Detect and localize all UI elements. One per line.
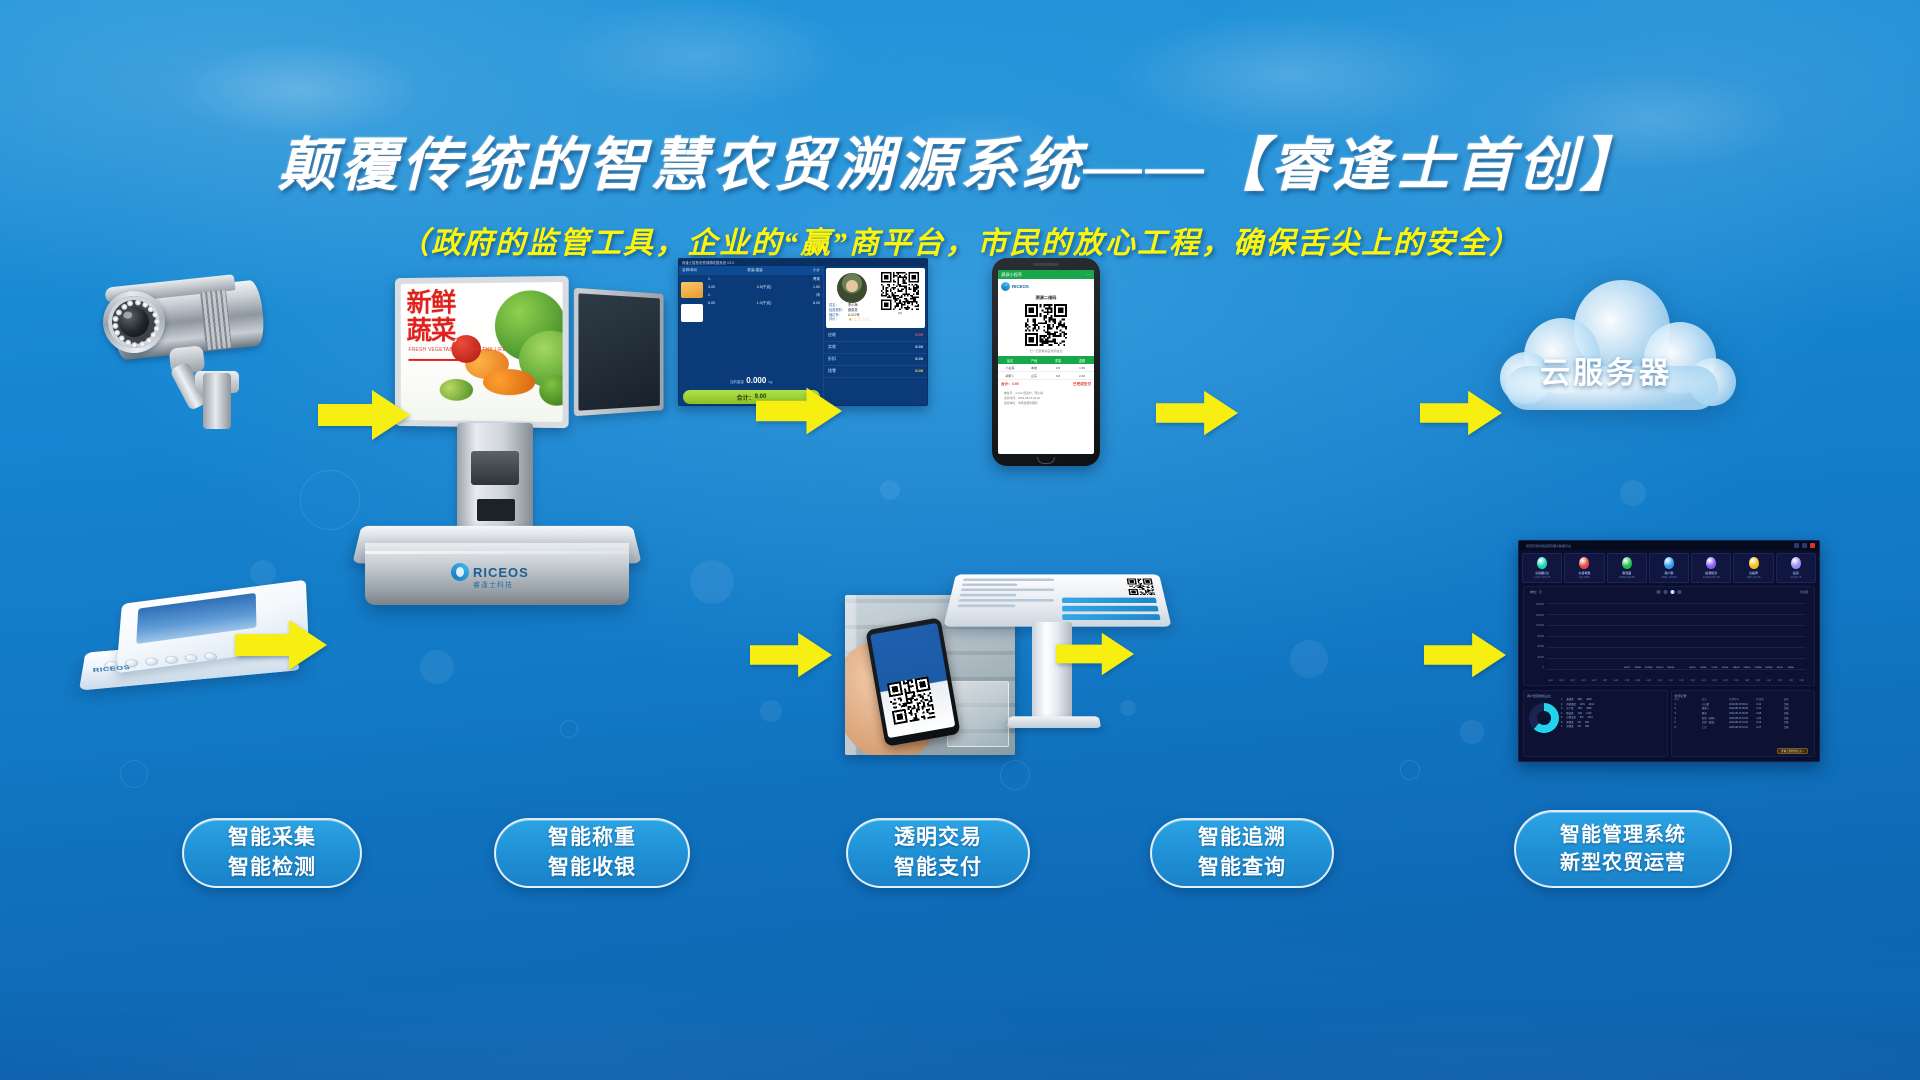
posui-vendor-fields: 姓名：李小梅经营类别：蔬菜类摊位号：A-012号评价：★☆☆☆☆ xyxy=(829,303,875,325)
phone-footer-info: 摊位号：A-012 经营户：李小梅交易时间：2019-08-15 10:22监管… xyxy=(998,389,1094,407)
chart-ytick: 180000 xyxy=(1526,603,1544,606)
dashboard-inspection-panel: 检测记录 序号品名检测时间检测值结果1小白菜2019-08-15 09:120.… xyxy=(1671,690,1816,757)
inspection-table: 序号品名检测时间检测值结果1小白菜2019-08-15 09:120.42合格2… xyxy=(1675,698,1812,731)
posui-amount-row: 实收9.00 xyxy=(824,342,927,354)
kiosk-touchscreen[interactable] xyxy=(943,574,1171,626)
chart-xtick: 18时 xyxy=(1743,678,1752,682)
pos-ad-english: FRESH VEGETABLES · HEALTHY LIFE xyxy=(408,347,506,353)
chart-view-toggle[interactable] xyxy=(1657,590,1682,594)
chart-xtick: 05时 xyxy=(1601,678,1610,682)
list-item: 7其他类2%268 xyxy=(1561,725,1664,730)
stage-label-line2: 新型农贸运营 xyxy=(1560,849,1686,877)
phone-navbar: 溯源小程序 ··· xyxy=(998,270,1094,279)
dashboard-kpi-card[interactable]: 合格率1891,70,35 xyxy=(1733,553,1773,583)
chart-ytick: 0 xyxy=(1526,666,1544,669)
stage-label-line2: 智能收银 xyxy=(548,853,636,883)
chart-x-axis: 00时01时02时03时04时05时06时07时08时09时10时11时12时1… xyxy=(1546,678,1806,682)
pos-customer-display xyxy=(574,288,664,416)
pos-brand-subtext: 睿逢士科技 xyxy=(473,580,513,590)
riceos-logo-icon xyxy=(451,563,469,581)
chart-xtick: 07时 xyxy=(1622,678,1631,682)
dashboard-kpi-card[interactable]: 交易笔数82,1468 xyxy=(1564,553,1604,583)
chart-xtick: 09时 xyxy=(1644,678,1653,682)
chart-xtick: 10时 xyxy=(1655,678,1664,682)
posui-window-title: 睿逢士智慧农贸溯源收银系统 V3.0 xyxy=(682,260,734,265)
posui-item-thumb xyxy=(681,304,703,322)
phone-table-head: 品名产地重量金额 xyxy=(998,356,1094,364)
stage-label-line1: 智能追溯 xyxy=(1198,823,1286,853)
kpi-value: 11964,646,78 xyxy=(1693,575,1729,579)
chart-xtick: 13时 xyxy=(1688,678,1697,682)
chart-unit-label: 单位：元 xyxy=(1530,590,1542,594)
cloud-server: 云服务器 xyxy=(1490,270,1750,430)
cctv-camera-icon xyxy=(95,275,310,435)
dashboard-kpi-card[interactable]: 交易额(元)1,827,193.75 xyxy=(1522,553,1562,583)
chart-ytick: 60000 xyxy=(1526,645,1544,648)
phone-qr-caption: 扫一扫查看商品溯源信息 xyxy=(998,349,1094,353)
arrow-right-icon xyxy=(1056,630,1134,678)
dashboard-kpi-card[interactable]: 投诉23,66,75 xyxy=(1776,553,1816,583)
chart-xtick: 11时 xyxy=(1666,678,1675,682)
posui-amount-row: 找零0.00 xyxy=(824,366,927,378)
traceability-mini-program[interactable]: 溯源小程序 ··· RICEOS 溯源二维码 扫一扫查看商品溯源信息 品名产地重… xyxy=(992,258,1100,466)
chart-xtick: 15时 xyxy=(1710,678,1719,682)
kpi-value: 2891,115.60 xyxy=(1651,575,1687,579)
stage-label-line1: 智能称重 xyxy=(548,823,636,853)
dashboard-category-panel: 商户经营类别占比 1蔬菜类38%48232肉禽蛋类22%29143水产类15%1… xyxy=(1523,690,1668,757)
chart-ytick: 90000 xyxy=(1526,635,1544,638)
phone-nav-more[interactable]: ··· xyxy=(1087,272,1091,277)
flow-diagram: RICEOS 新鲜 蔬菜 FRESH VEGETABLES · HEALTHY … xyxy=(0,0,1920,1080)
posui-vendor-field: 评价：★☆☆☆☆ xyxy=(829,317,875,325)
dashboard-kpi-card[interactable]: 检测批次11964,646,78 xyxy=(1691,553,1731,583)
stage-label-collection[interactable]: 智能采集 智能检测 xyxy=(182,818,362,888)
chart-xtick: 19时 xyxy=(1754,678,1763,682)
arrow-right-icon xyxy=(756,385,842,437)
chart-xtick: 08时 xyxy=(1633,678,1642,682)
arrow-right-icon xyxy=(750,630,832,680)
pos-brand: RICEOS xyxy=(451,563,529,581)
kpi-value: 1891,70,35 xyxy=(1735,575,1771,579)
arrow-right-icon xyxy=(1420,388,1502,438)
kpi-value: 18954,60,88 xyxy=(1609,575,1645,579)
chart-xtick: 21时 xyxy=(1775,678,1784,682)
stage-label-tracing[interactable]: 智能追溯 智能查询 xyxy=(1150,818,1334,888)
posui-amount-row: 折扣9.00 xyxy=(824,354,927,366)
pos-main-display: 新鲜 蔬菜 FRESH VEGETABLES · HEALTHY LIFE xyxy=(395,276,569,428)
dashboard-kpi-card[interactable]: 商户数2891,115.60 xyxy=(1649,553,1689,583)
stage-label-line1: 智能采集 xyxy=(228,823,316,853)
stage-label-management[interactable]: 智能管理系统 新型农贸运营 xyxy=(1514,810,1732,888)
phone-brand: RICEOS xyxy=(998,279,1094,294)
table-row[interactable]: 1. 青菜 xyxy=(705,275,823,283)
pos-brand-text: RICEOS xyxy=(473,565,529,580)
dashboard-kpi-card[interactable]: 客流量18954,60,88 xyxy=(1607,553,1647,583)
phone-home-button[interactable] xyxy=(1037,457,1055,464)
phone-col-header: 产地 xyxy=(1022,356,1046,364)
posui-amount-row: 应收9.00 xyxy=(824,330,927,342)
chart-xtick: 16时 xyxy=(1721,678,1730,682)
chart-xtick: 03时 xyxy=(1579,678,1588,682)
phone-col-header: 品名 xyxy=(998,356,1022,364)
chart-xtick: 04时 xyxy=(1590,678,1599,682)
kpi-indicator-icon xyxy=(1622,557,1632,569)
vendor-avatar xyxy=(837,273,867,303)
posui-col-sub: 小计 xyxy=(813,268,820,273)
chart-y-axis: 1800001500001200009000060000300000 xyxy=(1526,603,1544,669)
kpi-value: 1,827,193.75 xyxy=(1524,575,1560,579)
phone-speaker xyxy=(1033,263,1059,266)
kpi-indicator-icon xyxy=(1579,557,1589,569)
category-donut-chart xyxy=(1529,703,1559,733)
pos-ad-line2: 蔬菜 xyxy=(407,319,456,344)
maximize-icon[interactable] xyxy=(1802,543,1807,548)
dashboard-kpi-row: 交易额(元)1,827,193.75交易笔数82,1468客流量18954,60… xyxy=(1519,550,1819,586)
minimize-icon[interactable] xyxy=(1794,543,1799,548)
arrow-right-icon xyxy=(318,388,410,442)
chart-xtick: 14时 xyxy=(1699,678,1708,682)
posui-titlebar: 睿逢士智慧农贸溯源收银系统 V3.0 xyxy=(679,259,927,266)
phone-nav-title: 溯源小程序 xyxy=(1001,272,1022,278)
list-item: 小白菜本地0.51.50 xyxy=(998,364,1094,372)
dashboard-window-title: 智慧农贸市场运营管理大数据平台 xyxy=(1523,544,1571,548)
table-row[interactable]: 6土豆2019-08-15 10:310.27合格 xyxy=(1675,726,1812,731)
phone-total-row: 合计：3.90 已完成支付 xyxy=(998,380,1094,389)
market-management-dashboard[interactable]: 智慧农贸市场运营管理大数据平台 交易额(元)1,827,193.75交易笔数82… xyxy=(1518,540,1820,762)
view-all-records-button[interactable]: 查看全部检测记录 > xyxy=(1777,748,1808,754)
chart-xtick: 17时 xyxy=(1732,678,1741,682)
stage-label-line1: 透明交易 xyxy=(894,823,982,853)
chart-xtick: 22时 xyxy=(1786,678,1795,682)
dashboard-bar-chart: 单位：元 交易额 1800001500001200009000060000300… xyxy=(1523,586,1815,686)
stage-label-line2: 智能查询 xyxy=(1198,853,1286,883)
phone-table-body: 小白菜本地0.51.50胡萝卜山东0.82.40 xyxy=(998,364,1094,380)
chart-xtick: 01时 xyxy=(1557,678,1566,682)
arrow-right-icon xyxy=(235,618,327,672)
traceability-qr-code-icon[interactable] xyxy=(1025,304,1067,346)
chart-xtick: 06时 xyxy=(1612,678,1621,682)
stage-label-line1: 智能管理系统 xyxy=(1560,821,1686,849)
phone-col-header: 重量 xyxy=(1046,356,1070,364)
phone-col-header: 金额 xyxy=(1070,356,1094,364)
kpi-indicator-icon xyxy=(1791,557,1801,569)
list-item: 胡萝卜山东0.82.40 xyxy=(998,372,1094,380)
kpi-value: 23,66,75 xyxy=(1778,575,1814,579)
chart-ytick: 30000 xyxy=(1526,656,1544,659)
chart-bars: 1402162308118240152210106530581206244070… xyxy=(1546,603,1806,669)
kpi-indicator-icon xyxy=(1537,557,1547,569)
posui-col-qty: 数量/重量 xyxy=(747,268,762,273)
table-row[interactable]: 3.00 0.5(千克) 1.50 xyxy=(705,283,823,291)
stage-label-line2: 智能支付 xyxy=(894,853,982,883)
arrow-right-icon xyxy=(1424,630,1506,680)
riceos-logo-icon xyxy=(1001,282,1010,291)
stage-label-weighing[interactable]: 智能称重 智能收银 xyxy=(494,818,690,888)
kpi-indicator-icon xyxy=(1664,557,1674,569)
pos-cashier-screen[interactable]: 睿逢士智慧农贸溯源收银系统 V3.0 名称/单价 数量/重量 小计 1. 青菜 xyxy=(678,258,928,406)
posui-vendor-card: 姓名：李小梅经营类别：蔬菜类摊位号：A-012号评价：★☆☆☆☆ QR xyxy=(826,268,925,328)
chart-xtick: 12时 xyxy=(1677,678,1686,682)
table-row[interactable]: 6.00 1.0(千克) 6.00 xyxy=(705,299,823,307)
chart-ytick: 150000 xyxy=(1526,614,1544,617)
dashboard-titlebar: 智慧农贸市场运营管理大数据平台 xyxy=(1519,541,1819,550)
stage-label-line2: 智能检测 xyxy=(228,853,316,883)
posui-col-name: 名称/单价 xyxy=(682,268,697,273)
posui-item-thumb xyxy=(681,282,703,298)
chart-xtick: 23时 xyxy=(1797,678,1806,682)
chart-ytick: 120000 xyxy=(1526,624,1544,627)
payment-qr-code-icon xyxy=(887,676,936,725)
phone-card-title: 溯源二维码 xyxy=(998,295,1094,301)
chart-legend: 交易额 xyxy=(1800,590,1808,594)
chart-xtick: 20时 xyxy=(1764,678,1773,682)
kpi-indicator-icon xyxy=(1706,557,1716,569)
phone-footer-line: 监管单位：市场监督管理局 xyxy=(1004,401,1088,406)
kpi-value: 82,1468 xyxy=(1566,575,1602,579)
cloud-server-label: 云服务器 xyxy=(1490,348,1722,392)
chart-xtick: 00时 xyxy=(1546,678,1555,682)
posui-weight-readout: 当前重量 0.000 kg xyxy=(679,376,823,385)
stage-label-payment[interactable]: 透明交易 智能支付 xyxy=(846,818,1030,888)
pos-ad-line1: 新鲜 xyxy=(407,291,456,316)
vendor-qr-code-icon xyxy=(881,272,919,310)
arrow-right-icon xyxy=(1156,388,1238,438)
close-icon[interactable] xyxy=(1810,543,1815,548)
chart-xtick: 02时 xyxy=(1568,678,1577,682)
kiosk-qr-code-icon xyxy=(1127,579,1155,595)
table-row[interactable]: 2. 肉 xyxy=(705,291,823,299)
kpi-indicator-icon xyxy=(1749,557,1759,569)
